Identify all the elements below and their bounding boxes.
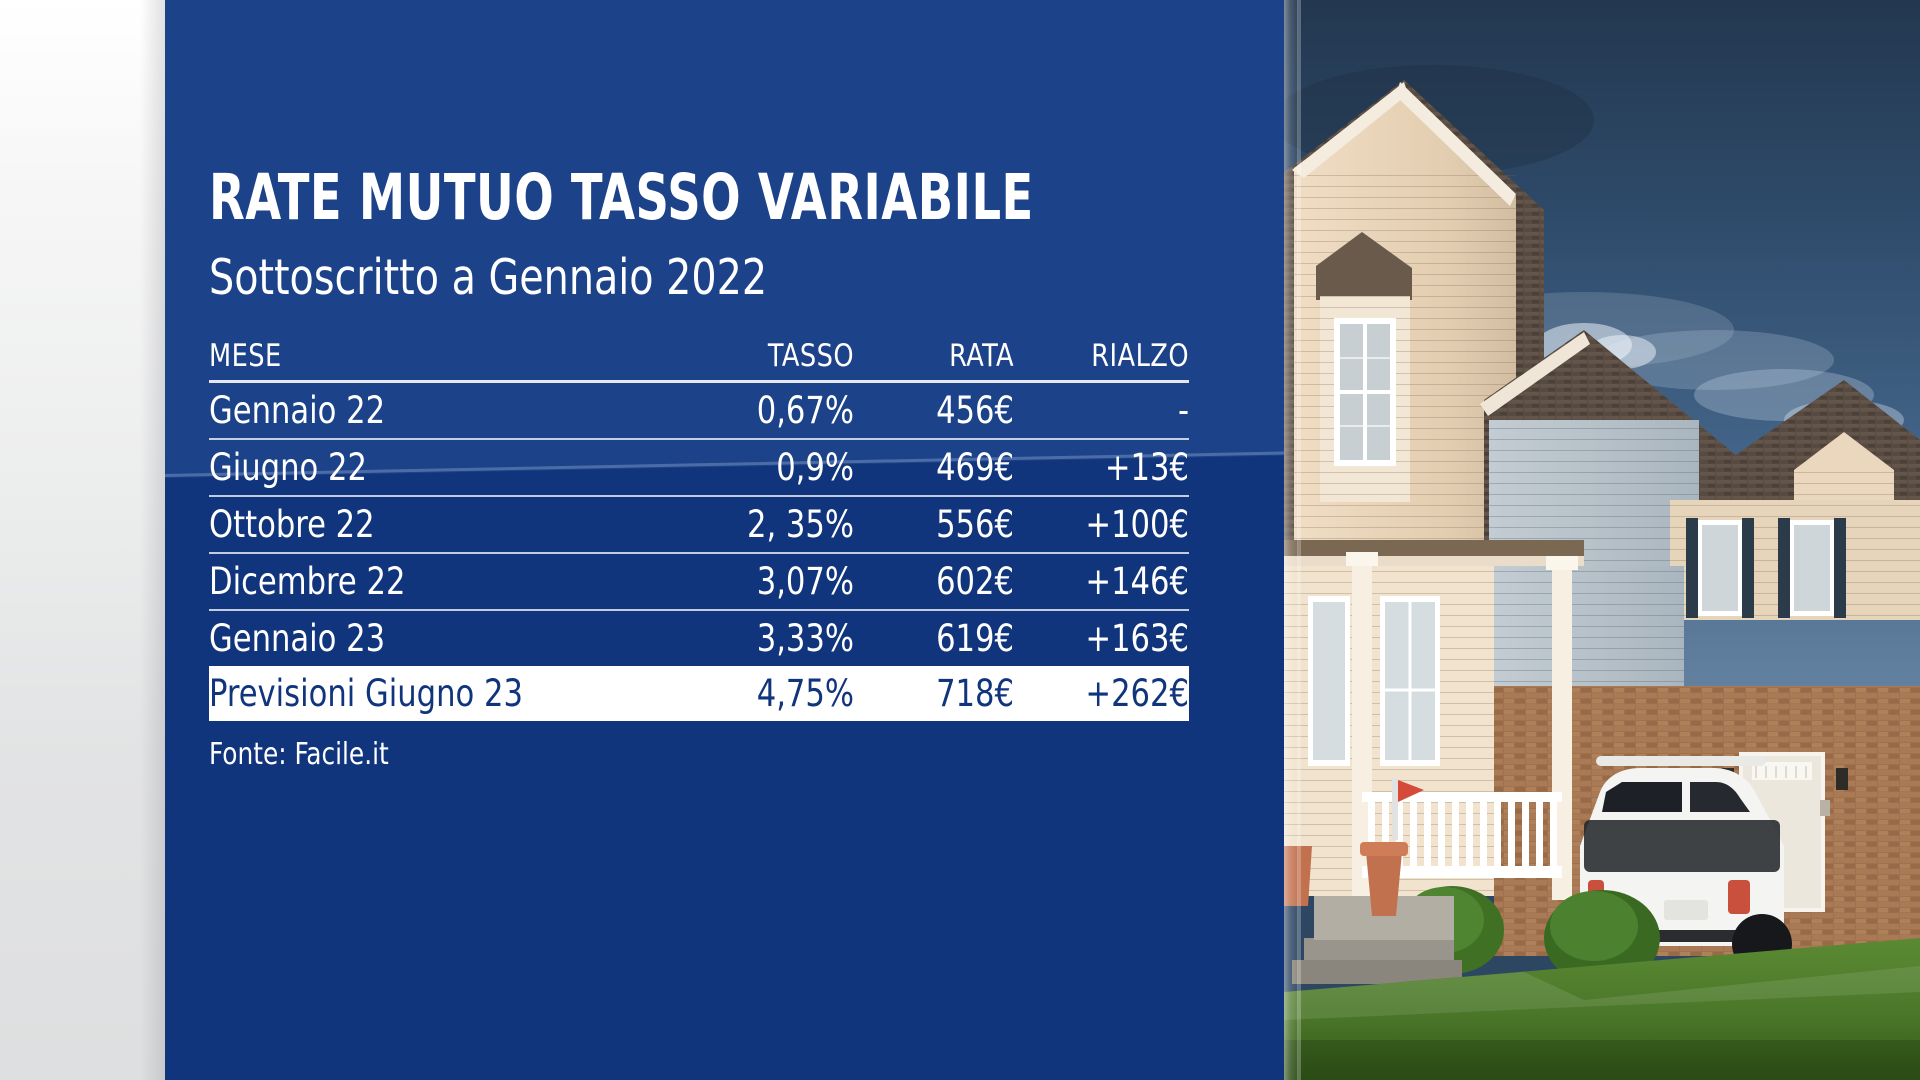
cell-rialzo: +163€ bbox=[1014, 619, 1189, 659]
slide-canvas: RATE MUTUO TASSO VARIABILE Sottoscritto … bbox=[0, 0, 1920, 1080]
cell-rialzo: +262€ bbox=[1014, 674, 1189, 714]
cell-mese: Previsioni Giugno 23 bbox=[209, 674, 639, 714]
page-title: RATE MUTUO TASSO VARIABILE bbox=[209, 166, 1034, 230]
cell-tasso: 2, 35% bbox=[639, 505, 854, 545]
column-header-tasso: TASSO bbox=[639, 336, 854, 376]
info-panel: RATE MUTUO TASSO VARIABILE Sottoscritto … bbox=[165, 0, 1284, 1080]
column-header-rata: RATA bbox=[854, 336, 1014, 376]
cell-tasso: 0,67% bbox=[639, 391, 854, 431]
table-row: Dicembre 22 3,07% 602€ +146€ bbox=[209, 554, 1189, 609]
table-row: Ottobre 22 2, 35% 556€ +100€ bbox=[209, 497, 1189, 552]
cell-rata: 602€ bbox=[854, 562, 1014, 602]
cell-rata: 619€ bbox=[854, 619, 1014, 659]
cell-rialzo: +100€ bbox=[1014, 505, 1189, 545]
table-row: Giugno 22 0,9% 469€ +13€ bbox=[209, 440, 1189, 495]
cell-rata: 456€ bbox=[854, 391, 1014, 431]
table-header-row: MESE TASSO RATA RIALZO bbox=[209, 332, 1189, 380]
house-photo bbox=[1284, 0, 1920, 1080]
cell-rialzo: - bbox=[1014, 391, 1189, 431]
cell-mese: Giugno 22 bbox=[209, 448, 639, 488]
cell-mese: Gennaio 22 bbox=[209, 391, 639, 431]
cell-tasso: 3,07% bbox=[639, 562, 854, 602]
table-row: Gennaio 23 3,33% 619€ +163€ bbox=[209, 611, 1189, 666]
column-header-rialzo: RIALZO bbox=[1014, 336, 1189, 376]
cell-tasso: 0,9% bbox=[639, 448, 854, 488]
page-subtitle: Sottoscritto a Gennaio 2022 bbox=[209, 252, 767, 304]
cell-mese: Ottobre 22 bbox=[209, 505, 639, 545]
panel-content: RATE MUTUO TASSO VARIABILE Sottoscritto … bbox=[165, 0, 1284, 1080]
table-row-highlighted: Previsioni Giugno 23 4,75% 718€ +262€ bbox=[209, 666, 1189, 721]
cell-rata: 556€ bbox=[854, 505, 1014, 545]
cell-tasso: 4,75% bbox=[639, 674, 854, 714]
column-header-mese: MESE bbox=[209, 336, 639, 376]
cell-rata: 718€ bbox=[854, 674, 1014, 714]
table-row: Gennaio 22 0,67% 456€ - bbox=[209, 383, 1189, 438]
cell-rialzo: +13€ bbox=[1014, 448, 1189, 488]
cell-rialzo: +146€ bbox=[1014, 562, 1189, 602]
cell-tasso: 3,33% bbox=[639, 619, 854, 659]
cell-mese: Gennaio 23 bbox=[209, 619, 639, 659]
cell-rata: 469€ bbox=[854, 448, 1014, 488]
rates-table: MESE TASSO RATA RIALZO Gennaio 22 0,67% … bbox=[209, 332, 1189, 721]
source-credit: Fonte: Facile.it bbox=[209, 737, 389, 772]
cell-mese: Dicembre 22 bbox=[209, 562, 639, 602]
